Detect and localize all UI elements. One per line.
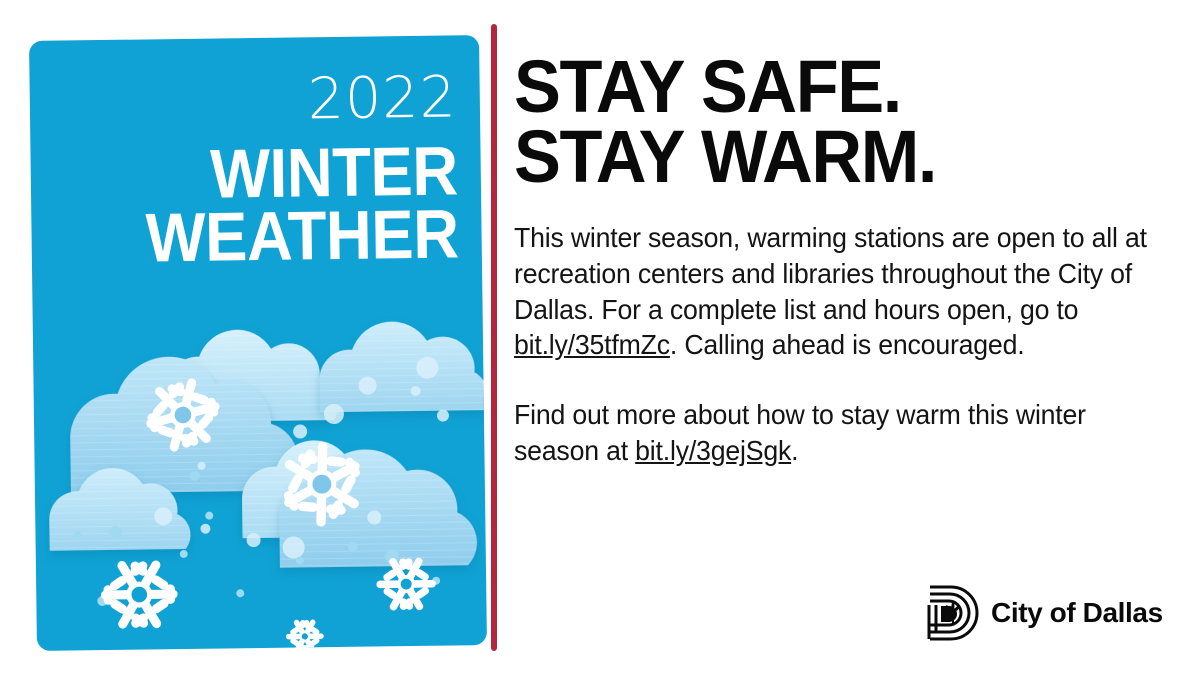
stay-warm-info-link[interactable]: bit.ly/3gejSgk [635, 435, 791, 466]
poster-title: WINTER WEATHER [71, 139, 459, 271]
red-vertical-divider [491, 24, 497, 651]
paragraph-2-text-after: . [791, 435, 798, 466]
city-of-dallas-logo: City of Dallas [926, 585, 1163, 641]
logo-wordmark: City of Dallas [991, 597, 1163, 629]
winter-weather-poster-card: 2022 WINTER WEATHER [29, 35, 487, 651]
poster-title-line2: WEATHER [72, 203, 459, 272]
warming-stations-list-link[interactable]: bit.ly/35tfmZc [514, 329, 670, 360]
body-paragraph-1: This winter season, warming stations are… [514, 220, 1154, 363]
clouds-and-snowflakes-icon [32, 290, 487, 651]
message-panel: STAY SAFE. STAY WARM. This winter season… [514, 52, 1174, 652]
paragraph-2-text-before: Find out more about how to stay warm thi… [514, 399, 1086, 466]
paragraph-1-text-after: . Calling ahead is encouraged. [670, 329, 1025, 360]
headline-line2: STAY WARM. [514, 122, 1141, 192]
poster-year-label: 2022 [307, 69, 457, 128]
headline-line1: STAY SAFE. [514, 52, 1141, 122]
poster-background: 2022 WINTER WEATHER [29, 35, 487, 651]
paragraph-1-text-before: This winter season, warming stations are… [514, 222, 1147, 325]
page-title: STAY SAFE. STAY WARM. [514, 52, 1141, 191]
body-paragraph-2: Find out more about how to stay warm thi… [514, 397, 1154, 469]
poster-canvas: 2022 WINTER WEATHER [0, 0, 1200, 675]
city-of-dallas-emblem-icon [926, 585, 980, 641]
